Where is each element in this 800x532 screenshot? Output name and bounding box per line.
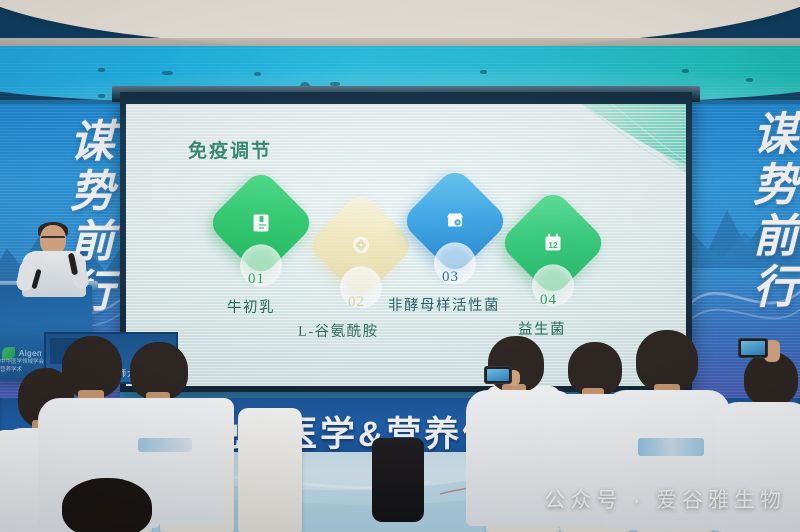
- slide-item-label-01: 牛初乳: [227, 296, 275, 317]
- right-panel-calligraphy: 谋势前行: [747, 110, 794, 314]
- watermark: 公众号 · 爱谷雅生物: [544, 484, 786, 514]
- slide-item-number-03: 03: [442, 269, 459, 286]
- slide-item-number-01: 01: [248, 271, 265, 288]
- glasses-icon: [41, 236, 65, 244]
- slide-item-icon-03: [400, 166, 510, 276]
- handbag: [372, 438, 424, 522]
- slide-item-icon-01: [206, 168, 316, 278]
- shirt-print: [138, 438, 192, 452]
- slide-title: 免疫调节: [188, 136, 272, 163]
- person-head: [636, 330, 698, 392]
- slide-item-icon-04: 12: [498, 188, 608, 298]
- audience-member-foreground: [62, 478, 154, 532]
- shirt-print: [638, 438, 704, 456]
- svg-text:12: 12: [548, 240, 558, 250]
- chair: [238, 408, 302, 532]
- slide-item-icon-02: [306, 190, 416, 300]
- smartphone[interactable]: [484, 366, 512, 384]
- slide-item-label-03: 非酵母样活性菌: [388, 294, 500, 315]
- slide-item-number-04: 04: [540, 292, 557, 309]
- phone-screen: [487, 369, 509, 381]
- person-head: [62, 478, 152, 532]
- slide-item-number-02: 02: [348, 294, 365, 311]
- conference-photo: 谋势前行 谋势前行: [0, 0, 800, 532]
- slide-item-label-02: L-谷氨酰胺: [298, 320, 379, 341]
- smartphone[interactable]: [738, 338, 768, 358]
- phone-screen: [741, 341, 765, 355]
